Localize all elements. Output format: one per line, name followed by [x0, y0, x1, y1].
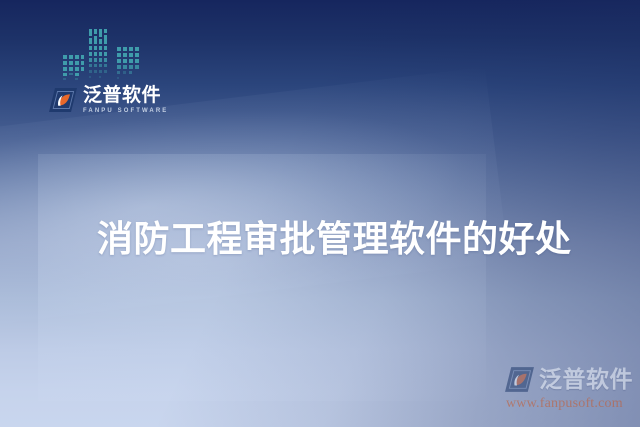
watermark-url: www.fanpusoft.com — [504, 396, 640, 412]
pixel-cityscape-icon — [62, 27, 144, 83]
background-center-glow — [38, 154, 486, 402]
brand-name-en: FANPU SOFTWARE — [83, 108, 168, 114]
brand-name-cn: 泛普软件 — [83, 86, 168, 105]
promo-banner: 泛普软件 FANPU SOFTWARE 消防工程审批管理软件的好处 泛普软件 w… — [0, 0, 640, 427]
brand-lockup: 泛普软件 FANPU SOFTWARE — [48, 86, 168, 114]
watermark-logo-row: 泛普软件 — [504, 366, 640, 393]
brand-text: 泛普软件 FANPU SOFTWARE — [83, 86, 168, 114]
fanpu-swirl-logo-icon — [48, 87, 78, 113]
watermark-brand-name: 泛普软件 — [539, 368, 633, 391]
watermark: 泛普软件 www.fanpusoft.com — [504, 366, 640, 412]
fanpu-swirl-logo-icon — [504, 366, 535, 393]
page-title: 消防工程审批管理软件的好处 — [97, 210, 572, 262]
